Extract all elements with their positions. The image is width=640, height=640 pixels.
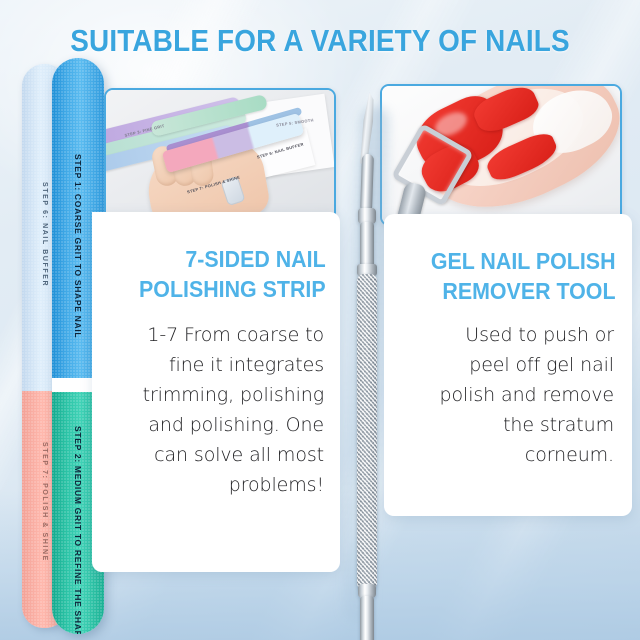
photo-gel-polish-removal [380, 84, 622, 226]
panel-right-body-line: polish and remove [402, 380, 614, 410]
panel-left-body-line: 1-7 From coarse to [108, 320, 324, 350]
panel-right-body: Used to push or peel off gel nail polish… [402, 320, 614, 470]
panel-right-heading-line1: GEL NAIL POLISH [431, 246, 616, 276]
nail-file-label-step1: STEP 1: COARSE GRIT TO SHAPE NAIL [73, 154, 83, 338]
panel-right-body-line: peel off gel nail [402, 350, 614, 380]
tool-knurled-handle [357, 274, 377, 590]
panel-left-body-line: problems! [108, 470, 324, 500]
tool-shaft [360, 596, 374, 640]
infographic-canvas: SUITABLE FOR A VARIETY OF NAILS STEP 6: … [0, 0, 640, 640]
panel-left-heading-line2: POLISHING STRIP [139, 274, 326, 304]
panel-right-heading-line2: REMOVER TOOL [431, 276, 616, 306]
photo-nail-file-in-hand: STEP 7: POLISH & SHINE STEP 6: NAIL BUFF… [104, 88, 336, 224]
tool-shaft [360, 222, 374, 268]
page-title: SUITABLE FOR A VARIETY OF NAILS [32, 22, 608, 60]
nail-file-label-step2: STEP 2: MEDIUM GRIT TO REFINE THE SHAPE [73, 426, 83, 634]
nail-file-label-step7: STEP 7: POLISH & SHINE [41, 442, 48, 562]
panel-left-body-line: and polishing. One [108, 410, 324, 440]
panel-right-body-line: Used to push or [402, 320, 614, 350]
panel-left-heading-line1: 7-SIDED NAIL [139, 244, 326, 274]
tool-neck [360, 154, 374, 212]
panel-right-body-line: corneum. [402, 440, 614, 470]
panel-left-body-line: trimming, polishing [108, 380, 324, 410]
cuticle-pusher-tool [345, 92, 389, 626]
panel-right-heading: GEL NAIL POLISH REMOVER TOOL [431, 246, 616, 306]
panel-left-body: 1-7 From coarse to fine it integrates tr… [108, 320, 324, 500]
panel-left-heading: 7-SIDED NAIL POLISHING STRIP [139, 244, 326, 304]
panel-nail-polishing-strip: 7-SIDED NAIL POLISHING STRIP 1-7 From co… [92, 212, 340, 572]
panel-right-body-line: the stratum [402, 410, 614, 440]
panel-left-body-line: fine it integrates [108, 350, 324, 380]
nail-file-label-step6: STEP 6: NAIL BUFFER [41, 182, 48, 287]
panel-gel-polish-remover: GEL NAIL POLISH REMOVER TOOL Used to pus… [384, 214, 632, 516]
panel-left-body-line: can solve all most [108, 440, 324, 470]
